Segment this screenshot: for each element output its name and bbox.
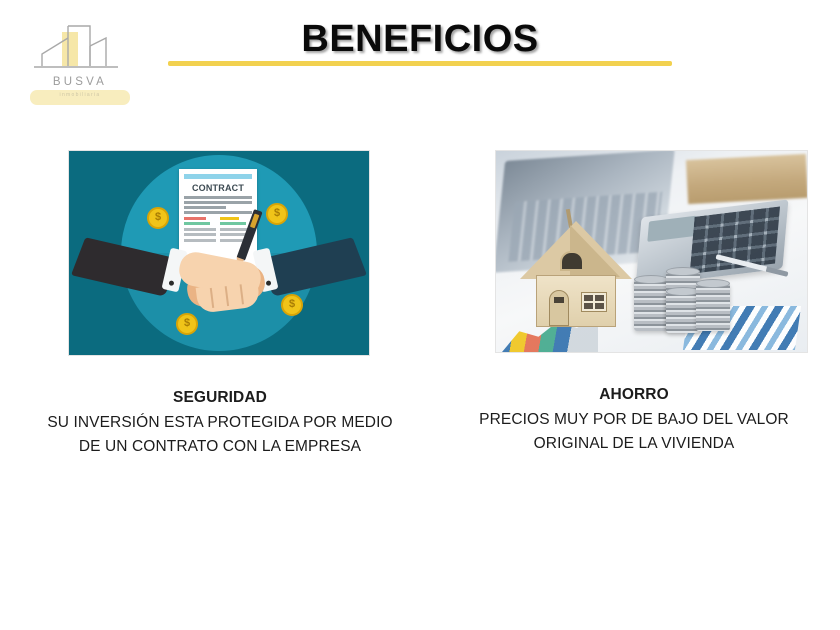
document-chip — [184, 239, 216, 242]
document-chip — [184, 228, 216, 231]
coin-icon: $ — [176, 313, 198, 335]
window-pane — [584, 303, 593, 309]
finger-separator — [225, 286, 229, 306]
cuff-button — [266, 280, 272, 286]
coin-icon: $ — [281, 294, 303, 316]
title-underline — [168, 61, 672, 66]
page-title: BENEFICIOS — [0, 18, 840, 61]
calculator-screen — [647, 216, 696, 242]
document-column — [184, 217, 216, 245]
coin-stack — [634, 279, 668, 331]
wood-desk-strip — [686, 154, 808, 204]
handshake-contract-illustration: $ $ $ $ CONTRACT — [68, 150, 370, 356]
coin-icon: $ — [266, 203, 288, 225]
document-chip — [184, 217, 206, 220]
caption-body: PRECIOS MUY POR DE BAJO DEL VALOR ORIGIN… — [450, 408, 818, 456]
house-model-coins-calculator-photo — [495, 150, 808, 353]
document-text-line — [184, 196, 252, 199]
logo-wordmark: BUSVA — [24, 76, 136, 88]
house-door — [549, 290, 569, 326]
window-pane — [584, 295, 593, 301]
caption-ahorro: AHORRO PRECIOS MUY POR DE BAJO DEL VALOR… — [450, 383, 818, 456]
window-pane — [595, 303, 604, 309]
finger-separator — [210, 288, 214, 308]
document-header-bar — [184, 174, 252, 179]
caption-seguridad: SEGURIDAD SU INVERSIÓN ESTA PROTEGIDA PO… — [40, 386, 400, 459]
document-text-line — [184, 201, 252, 204]
cuff-button — [168, 280, 174, 286]
finger-separator — [240, 284, 244, 304]
door-window — [554, 297, 564, 303]
coin-icon: $ — [147, 207, 169, 229]
document-chip — [220, 222, 246, 225]
document-text-line — [184, 211, 252, 214]
coin-stack — [696, 283, 730, 331]
contract-document-title: CONTRACT — [184, 183, 252, 193]
caption-body: SU INVERSIÓN ESTA PROTEGIDA POR MEDIO DE… — [40, 411, 400, 459]
coin-stack — [666, 291, 700, 333]
caption-heading: AHORRO — [450, 383, 818, 407]
document-chip — [184, 222, 210, 225]
document-text-line — [184, 206, 226, 209]
house-attic-window — [560, 251, 584, 271]
logo-tagline: inmobiliaria — [24, 92, 136, 98]
document-chip — [184, 233, 216, 236]
house-body — [536, 275, 616, 327]
house-window — [581, 292, 607, 312]
slide-canvas: BUSVA inmobiliaria BENEFICIOS $ $ $ $ CO… — [0, 0, 840, 630]
window-pane — [595, 295, 604, 301]
document-chip — [220, 217, 239, 220]
wooden-house-model — [526, 213, 626, 329]
caption-heading: SEGURIDAD — [40, 386, 400, 410]
benefit-column-seguridad: $ $ $ $ CONTRACT — [40, 150, 400, 459]
benefit-column-ahorro: AHORRO PRECIOS MUY POR DE BAJO DEL VALOR… — [450, 150, 818, 456]
